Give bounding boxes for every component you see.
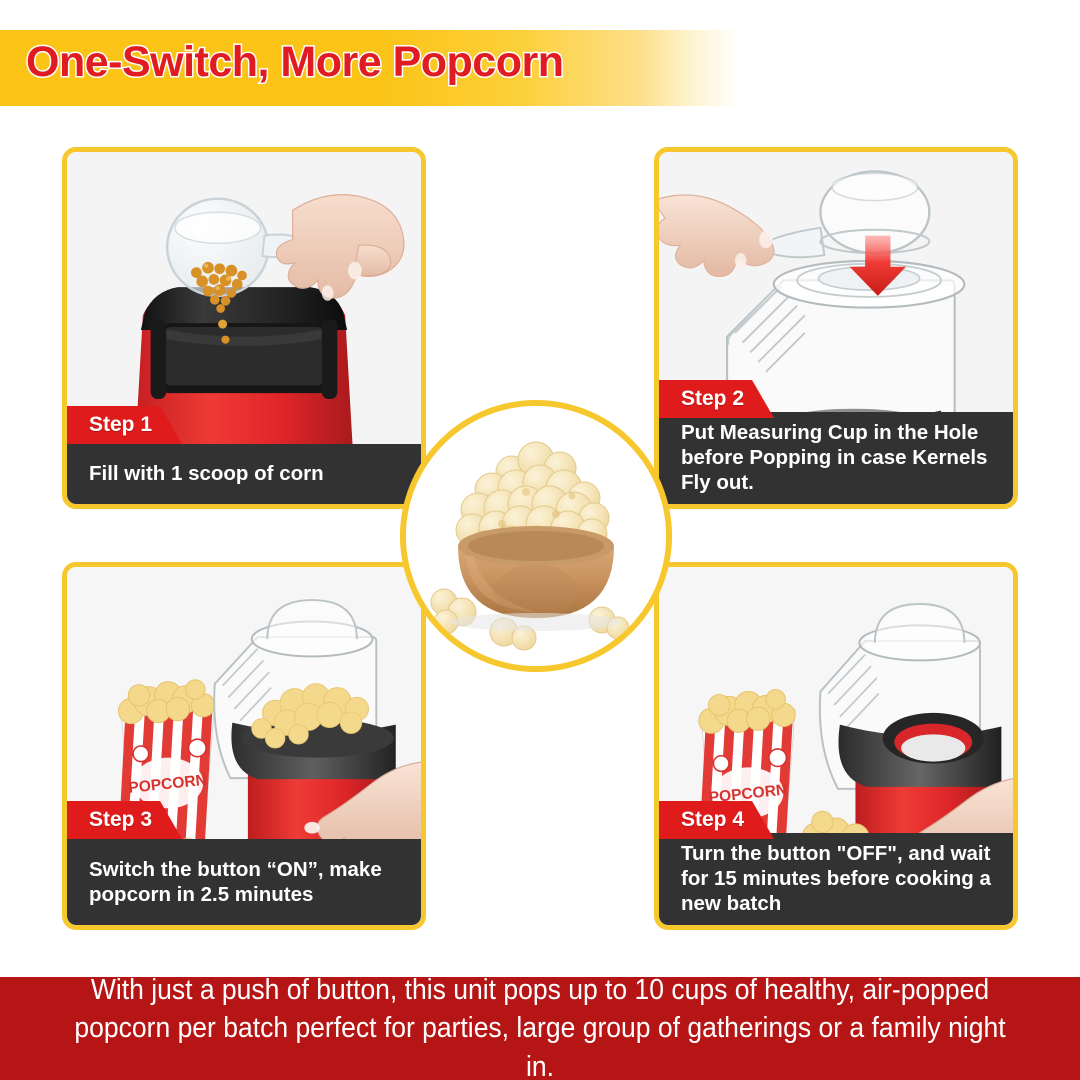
step-4-caption: Turn the button "OFF", and wait for 15 m… xyxy=(659,833,1013,925)
step-1-caption: Fill with 1 scoop of corn xyxy=(67,444,421,504)
step-panel-1: Step 1 Fill with 1 scoop of corn xyxy=(62,147,426,509)
step-3-caption: Switch the button “ON”, make popcorn in … xyxy=(67,839,421,925)
step-panel-3: POPCORN xyxy=(62,562,426,930)
product-infographic: One-Switch, More Popcorn xyxy=(0,0,1080,1080)
footer-banner: With just a push of button, this unit po… xyxy=(0,977,1080,1080)
page-title: One-Switch, More Popcorn xyxy=(26,38,564,87)
center-hero-circle xyxy=(400,400,672,672)
footer-text: With just a push of button, this unit po… xyxy=(70,971,1009,1080)
illustration-popcorn-bowl xyxy=(406,406,666,666)
step-panel-2: Step 2 Put Measuring Cup in the Hole bef… xyxy=(654,147,1018,509)
step-panel-4: POPCORN xyxy=(654,562,1018,930)
step-2-caption: Put Measuring Cup in the Hole before Pop… xyxy=(659,412,1013,504)
